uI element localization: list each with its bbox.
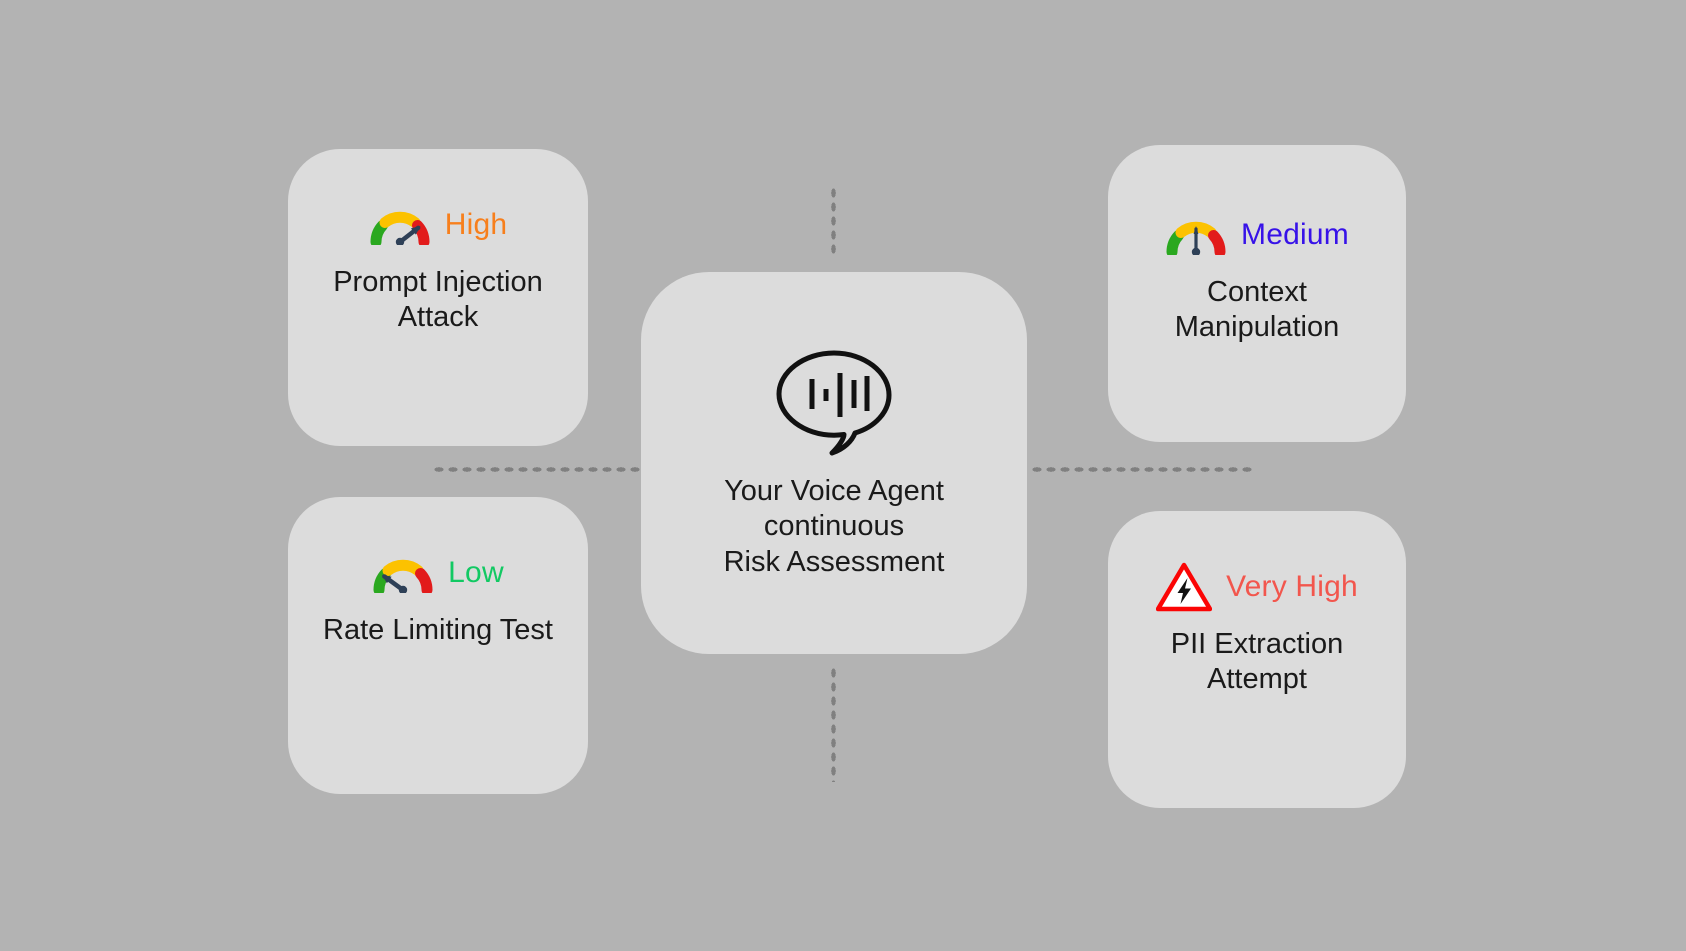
severity-label: Low [448, 556, 504, 590]
center-title-line: Your Voice Agent [724, 474, 945, 509]
card-title-line: Attempt [1171, 662, 1343, 697]
card-title-line: Attack [333, 300, 543, 335]
warning-triangle-icon [1156, 562, 1212, 612]
gauge-icon [1165, 215, 1227, 255]
diagram-canvas: High Prompt Injection Attack [0, 0, 1686, 951]
connector-center-right [1030, 466, 1252, 473]
card-title: Context Manipulation [1175, 275, 1339, 346]
severity-label: Very High [1226, 570, 1358, 604]
severity-row: Medium [1165, 207, 1349, 263]
voice-speech-bubble-icon [772, 346, 896, 458]
card-title-line: PII Extraction [1171, 627, 1343, 662]
severity-label: High [445, 208, 508, 242]
connector-center-top [830, 186, 837, 258]
card-title-line: Manipulation [1175, 310, 1339, 345]
connector-center-bottom [830, 666, 837, 782]
center-title: Your Voice Agent continuous Risk Assessm… [724, 474, 945, 580]
connector-center-left [432, 466, 640, 473]
card-pii-extraction-attempt[interactable]: Very High PII Extraction Attempt [1108, 511, 1406, 808]
card-title-line: Context [1175, 275, 1339, 310]
center-title-line: continuous [724, 509, 945, 544]
center-title-line: Risk Assessment [724, 545, 945, 580]
card-title: Prompt Injection Attack [333, 265, 543, 336]
card-title-line: Rate Limiting Test [323, 613, 553, 648]
card-title: Rate Limiting Test [323, 613, 553, 648]
card-title: PII Extraction Attempt [1171, 627, 1343, 698]
severity-row: Very High [1156, 559, 1358, 615]
card-rate-limiting-test[interactable]: Low Rate Limiting Test [288, 497, 588, 794]
gauge-icon [372, 553, 434, 593]
card-title-line: Prompt Injection [333, 265, 543, 300]
gauge-icon [369, 205, 431, 245]
severity-row: High [369, 197, 508, 253]
severity-label: Medium [1241, 218, 1349, 252]
severity-row: Low [372, 545, 504, 601]
card-center-voice-agent[interactable]: Your Voice Agent continuous Risk Assessm… [641, 272, 1027, 654]
card-context-manipulation[interactable]: Medium Context Manipulation [1108, 145, 1406, 442]
card-prompt-injection-attack[interactable]: High Prompt Injection Attack [288, 149, 588, 446]
